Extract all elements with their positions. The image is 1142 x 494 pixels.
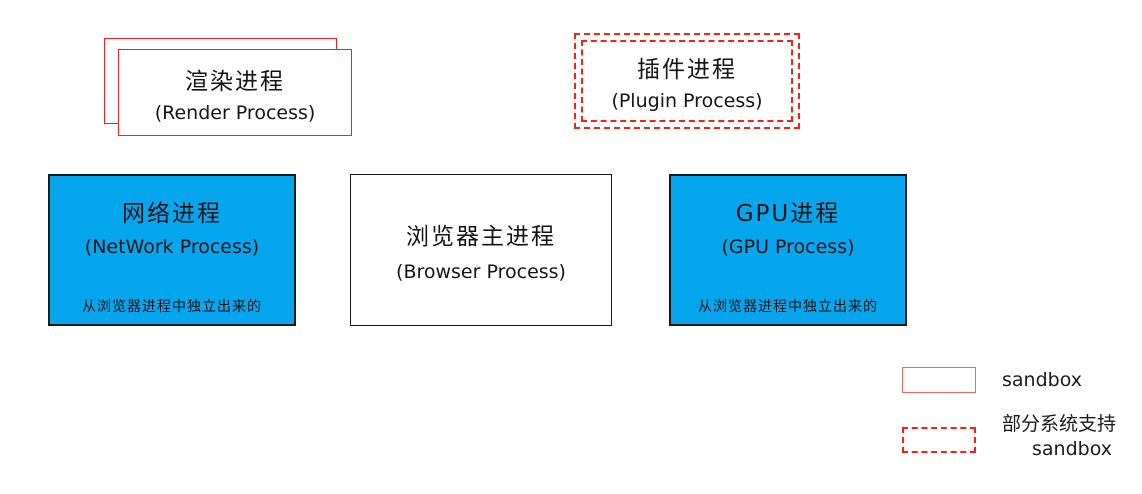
- render-process-title: 渲染进程: [185, 62, 285, 96]
- browser-process-box[interactable]: 浏览器主进程 (Browser Process): [350, 174, 612, 326]
- legend-sandbox-label: sandbox: [1002, 368, 1082, 393]
- network-process-title: 网络进程: [122, 194, 222, 228]
- legend-partial-sandbox-label-line1: 部分系统支持: [1002, 412, 1112, 437]
- render-process-group: 渲染进程 (Render Process): [104, 38, 352, 136]
- network-process-note: 从浏览器进程中独立出来的: [82, 296, 262, 316]
- legend-partial-sandbox-label: 部分系统支持 sandbox: [1002, 412, 1112, 462]
- plugin-process-subtitle: (Plugin Process): [611, 90, 762, 112]
- render-process-box[interactable]: 渲染进程 (Render Process): [118, 49, 352, 136]
- gpu-process-subtitle: (GPU Process): [721, 236, 854, 258]
- legend-partial-sandbox-swatch-icon: [902, 427, 976, 453]
- gpu-process-note: 从浏览器进程中独立出来的: [698, 296, 878, 316]
- network-process-box[interactable]: 网络进程 (NetWork Process) 从浏览器进程中独立出来的: [48, 174, 296, 326]
- browser-process-subtitle: (Browser Process): [396, 261, 566, 283]
- gpu-process-title: GPU进程: [736, 194, 841, 228]
- gpu-process-box[interactable]: GPU进程 (GPU Process) 从浏览器进程中独立出来的: [669, 174, 907, 326]
- browser-process-title: 浏览器主进程: [406, 217, 556, 251]
- legend-partial-sandbox-label-line2: sandbox: [1002, 437, 1112, 462]
- plugin-process-title: 插件进程: [637, 50, 737, 84]
- render-process-subtitle: (Render Process): [155, 102, 316, 124]
- legend-sandbox-swatch-icon: [902, 367, 976, 393]
- plugin-process-group: 插件进程 (Plugin Process): [574, 33, 802, 131]
- network-process-subtitle: (NetWork Process): [85, 236, 259, 258]
- plugin-process-box[interactable]: 插件进程 (Plugin Process): [581, 40, 793, 122]
